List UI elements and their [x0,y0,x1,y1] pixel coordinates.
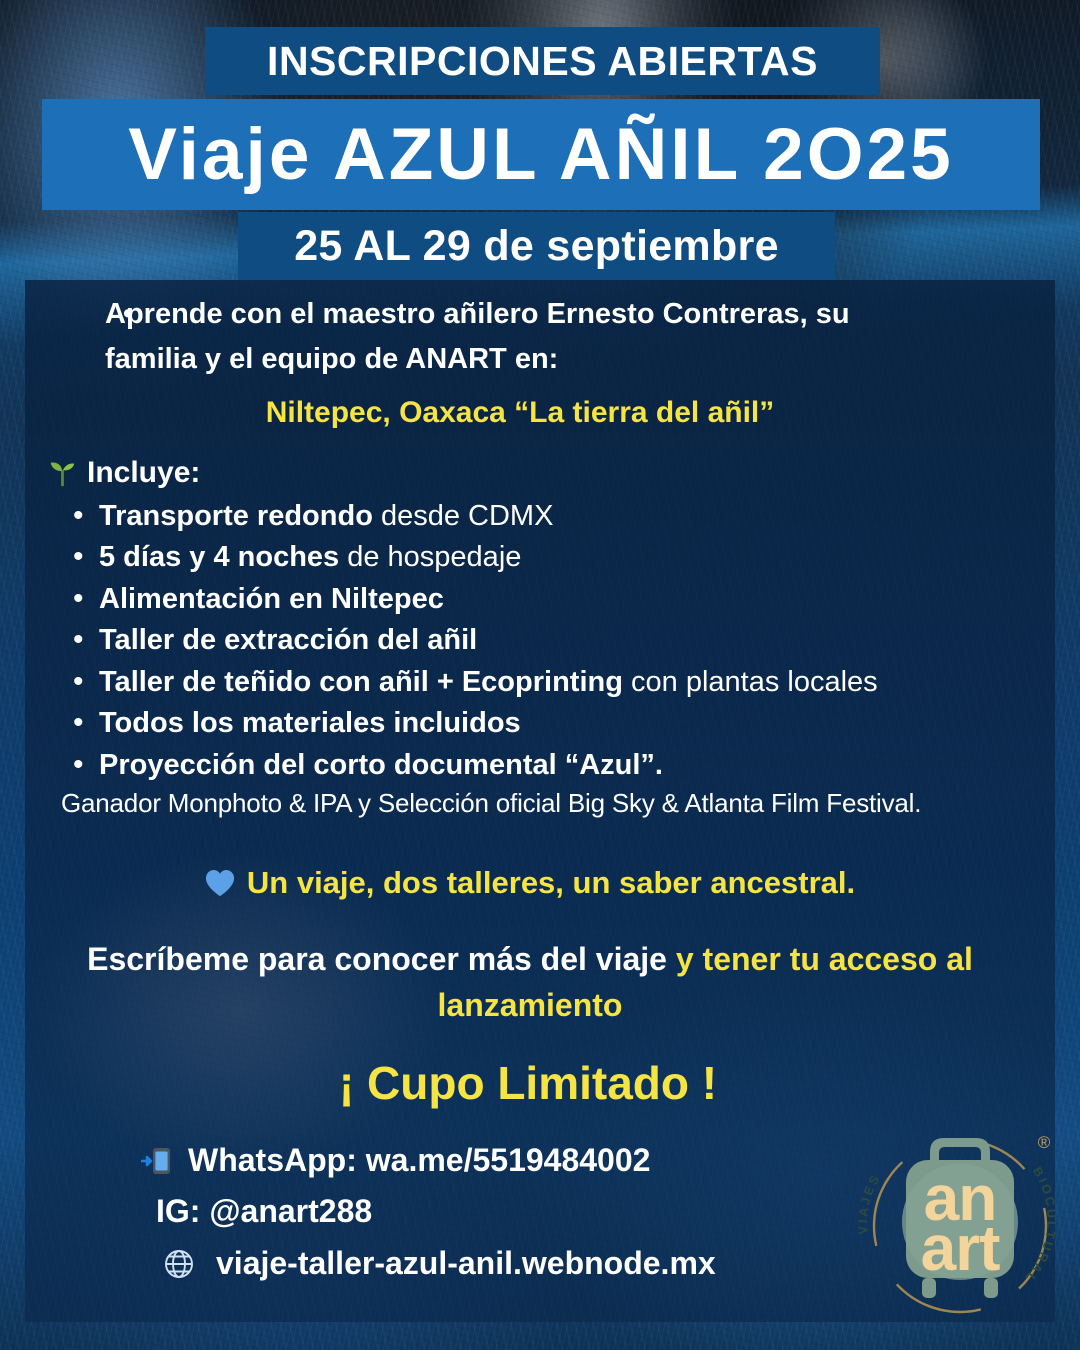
poster-canvas: INSCRIPCIONES ABIERTAS Viaje AZUL AÑIL 2… [0,0,1080,1350]
intro-bullet-row: • Aprende con el maestro añilero Ernesto… [73,292,1021,337]
includes-list: Transporte redondo desde CDMX 5 días y 4… [49,496,1055,786]
list-item: Taller de teñido con añil + Ecoprinting … [49,662,1055,703]
bullet-icon: • [123,292,133,337]
svg-text:VIAJES: VIAJES [856,1171,884,1235]
limited-spots-text: ¡ Cupo Limitado ! [25,1056,1055,1110]
list-item: Alimentación en Niltepec [49,579,1055,620]
cta-text: Escríbeme para conocer más del viaje y t… [25,937,1055,1028]
tagline-text: Un viaje, dos talleres, un saber ancestr… [247,865,855,901]
title-banner: Viaje AZUL AÑIL 2O25 [42,99,1040,210]
includes-heading: Incluye: [87,456,200,490]
kicker-banner: INSCRIPCIONES ABIERTAS [205,27,880,95]
globe-icon [162,1247,196,1281]
svg-text:®: ® [1038,1133,1051,1152]
seedling-icon [47,458,77,488]
anart-logo: an art VIAJES BIOCULTURALES ® [852,1118,1068,1334]
intro-line-2: familia y el equipo de ANART en: [73,337,1021,382]
list-item: Todos los materiales incluidos [49,703,1055,744]
svg-text:art: art [921,1212,1001,1284]
blue-heart-icon [205,869,235,897]
event-dates: 25 AL 29 de septiembre [294,222,779,271]
list-item: Taller de extracción del añil [49,620,1055,661]
kicker-text: INSCRIPCIONES ABIERTAS [267,38,818,85]
cta-white: Escríbeme para conocer más del viaje [87,941,676,977]
mobile-phone-with-arrow-icon [140,1144,174,1178]
logo-arc-left: VIAJES [856,1171,884,1235]
website-text: viaje-taller-azul-anil.webnode.mx [216,1241,716,1286]
tagline-row: Un viaje, dos talleres, un saber ancestr… [25,865,1055,901]
list-item: Transporte redondo desde CDMX [49,496,1055,537]
intro-block: • Aprende con el maestro añilero Ernesto… [25,292,1055,382]
page-title: Viaje AZUL AÑIL 2O25 [128,113,953,196]
whatsapp-text: WhatsApp: wa.me/5519484002 [188,1138,650,1183]
includes-heading-row: Incluye: [47,456,1055,490]
instagram-text: IG: @anart288 [156,1189,372,1234]
documentary-awards-note: Ganador Monphoto & IPA y Selección ofici… [61,788,1055,819]
list-item: 5 días y 4 noches de hospedaje [49,537,1055,578]
destination-highlight: Niltepec, Oaxaca “La tierra del añil” [25,396,1055,430]
list-item: Proyección del corto documental “Azul”. [49,745,1055,786]
date-banner: 25 AL 29 de septiembre [238,212,835,280]
intro-line-1: Aprende con el maestro añilero Ernesto C… [105,298,850,330]
